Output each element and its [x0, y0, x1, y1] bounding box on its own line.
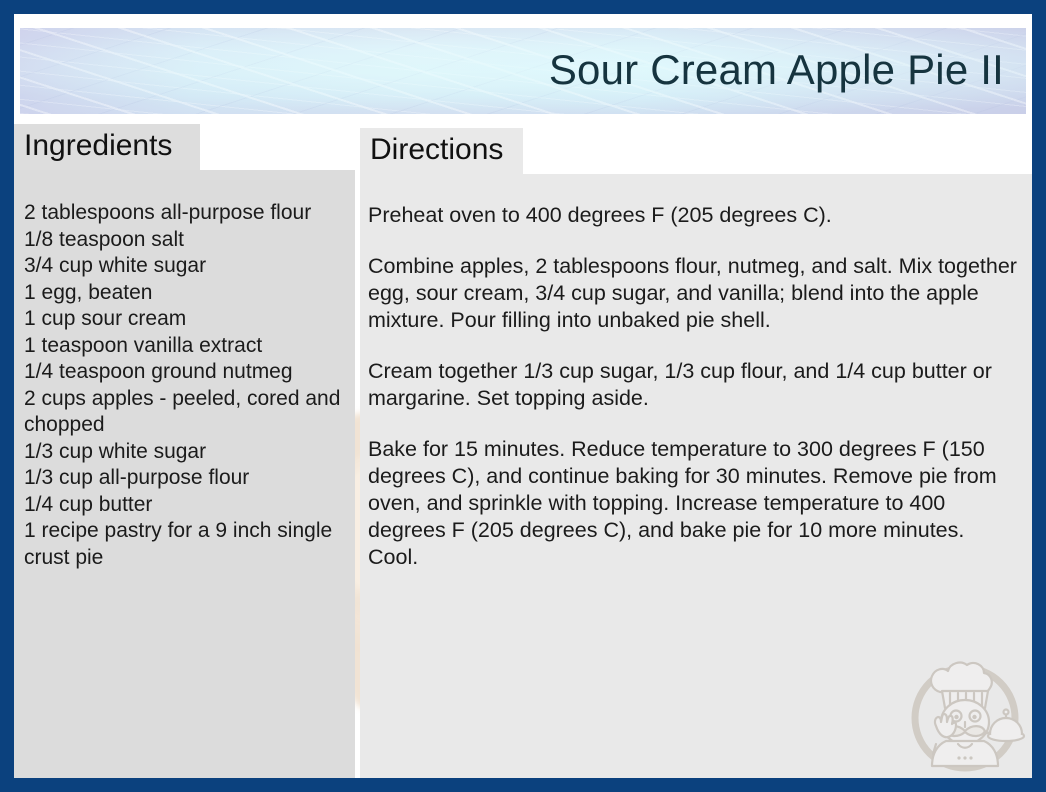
list-item: 3/4 cup white sugar: [24, 253, 343, 280]
directions-panel: Preheat oven to 400 degrees F (205 degre…: [360, 174, 1032, 778]
list-item: 1/3 cup all-purpose flour: [24, 465, 343, 492]
direction-step: Cream together 1/3 cup sugar, 1/3 cup fl…: [368, 358, 1018, 412]
direction-step: Combine apples, 2 tablespoons flour, nut…: [368, 253, 1018, 334]
list-item: 1/3 cup white sugar: [24, 439, 343, 466]
list-item: 1 teaspoon vanilla extract: [24, 333, 343, 360]
title-banner: Sour Cream Apple Pie II: [20, 28, 1026, 114]
card-sheet: Sour Cream Apple Pie II: [14, 14, 1032, 778]
direction-step: Preheat oven to 400 degrees F (205 degre…: [368, 202, 1018, 229]
tab-ingredients[interactable]: Ingredients: [14, 124, 200, 170]
tab-directions[interactable]: Directions: [360, 128, 523, 174]
ingredients-list: 2 tablespoons all-purpose flour 1/8 teas…: [24, 200, 343, 571]
directions-body: Preheat oven to 400 degrees F (205 degre…: [368, 202, 1018, 571]
ingredients-panel: 2 tablespoons all-purpose flour 1/8 teas…: [14, 170, 355, 778]
direction-step: Bake for 15 minutes. Reduce temperature …: [368, 436, 1018, 571]
list-item: 2 cups apples - peeled, cored and choppe…: [24, 386, 343, 439]
list-item: 1/4 teaspoon ground nutmeg: [24, 359, 343, 386]
list-item: 1/8 teaspoon salt: [24, 227, 343, 254]
list-item: 1 cup sour cream: [24, 306, 343, 333]
list-item: 1 recipe pastry for a 9 inch single crus…: [24, 518, 343, 571]
list-item: 1 egg, beaten: [24, 280, 343, 307]
recipe-card: Sour Cream Apple Pie II: [0, 0, 1046, 792]
list-item: 1/4 cup butter: [24, 492, 343, 519]
recipe-title: Sour Cream Apple Pie II: [549, 49, 1004, 91]
list-item: 2 tablespoons all-purpose flour: [24, 200, 343, 227]
